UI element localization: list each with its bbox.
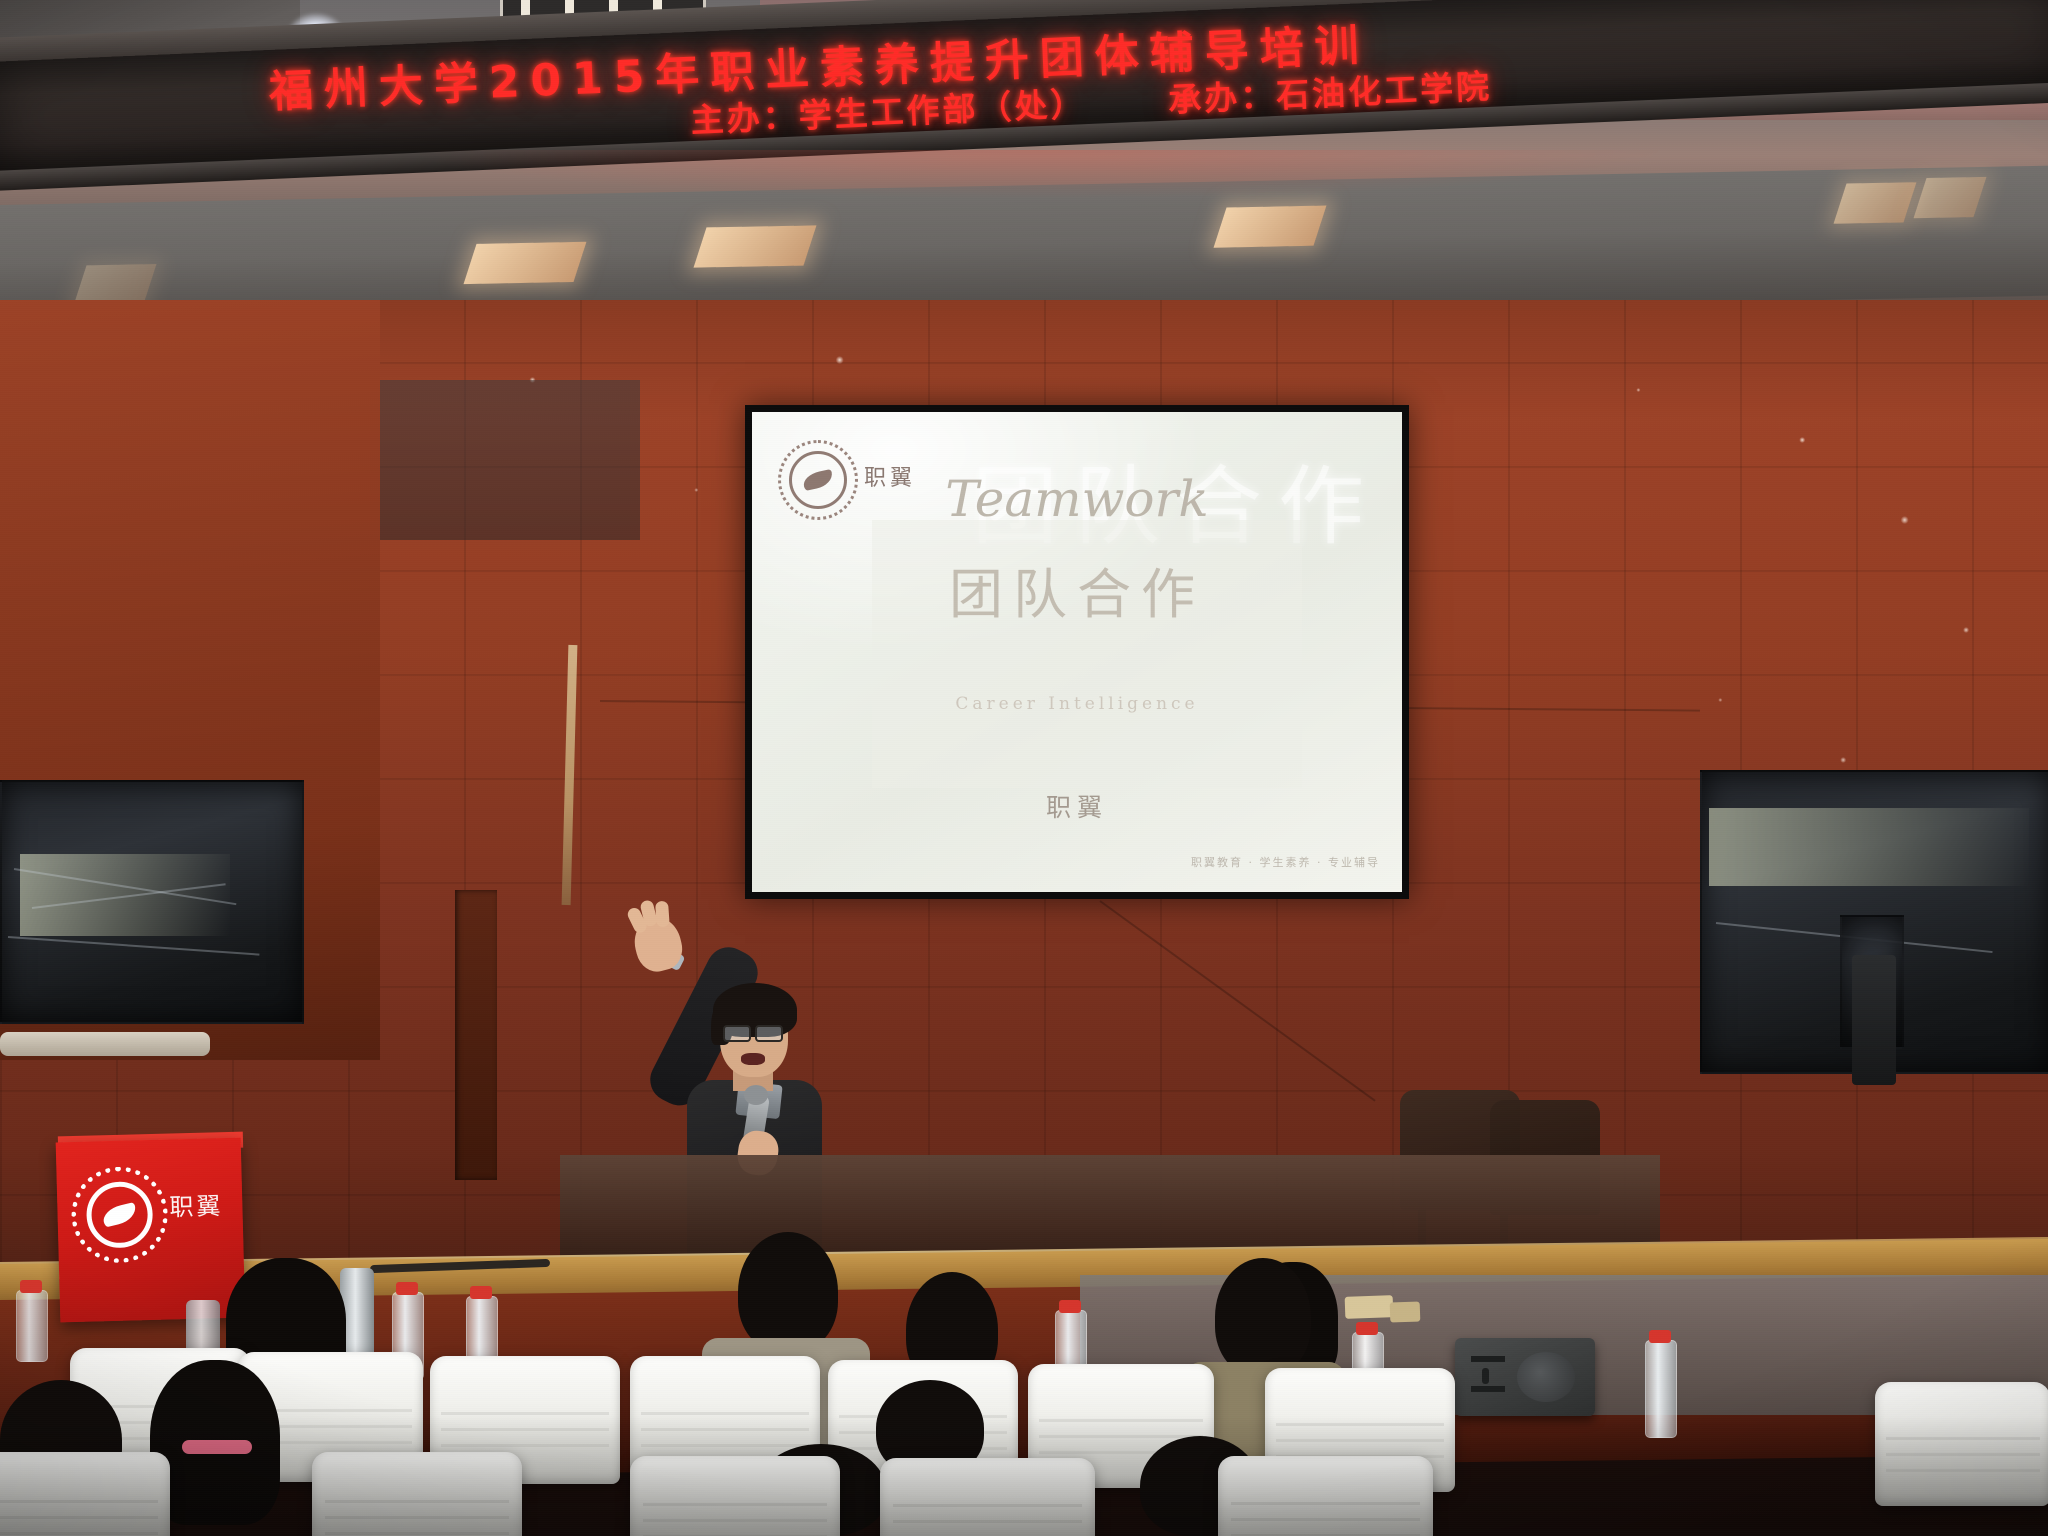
bottle-cap <box>1649 1330 1671 1343</box>
presenter-mouth <box>741 1053 765 1065</box>
glasses-icon <box>755 1025 783 1042</box>
water-bottle <box>16 1290 48 1362</box>
flag-label: 职翼 <box>169 1186 224 1222</box>
audience-person-head <box>1215 1258 1311 1376</box>
soffit-lamp-icon <box>464 242 587 284</box>
audience-chair <box>0 1452 170 1536</box>
speaker-cone-icon <box>1517 1352 1575 1402</box>
soffit-lamp-icon <box>1214 206 1327 248</box>
slide-footer-note: 职翼教育 · 学生素养 · 专业辅导 <box>1191 854 1380 870</box>
bottle-cap <box>470 1286 492 1299</box>
bottle-cap <box>396 1282 418 1295</box>
wall-speaker-column <box>1852 955 1896 1085</box>
microphone-head-icon <box>744 1085 768 1105</box>
slide-title-english: Teamwork <box>752 470 1402 528</box>
audience-chair <box>1218 1456 1433 1536</box>
wall-dark-band <box>380 380 640 540</box>
window-reflection <box>1709 808 2029 886</box>
soffit-lamp-icon <box>1834 182 1917 224</box>
audience-person-head <box>738 1232 838 1352</box>
wall-window-left <box>0 780 304 1024</box>
stage-edge-paper <box>1345 1295 1394 1319</box>
audience-chair <box>880 1458 1095 1536</box>
bottle-cap <box>20 1280 42 1293</box>
glasses-icon <box>723 1025 751 1042</box>
slide-subtitle: Career Intelligence <box>752 694 1402 714</box>
speaker-grill-icon <box>1471 1356 1505 1362</box>
audience-chair <box>630 1456 840 1536</box>
soffit-lamp-icon <box>1914 177 1987 218</box>
stage-floor-monitor-speaker <box>1455 1338 1595 1416</box>
window-sill-objects <box>0 1032 210 1056</box>
water-bottle <box>1645 1340 1677 1438</box>
projection-screen-frame: 职翼 团队合作 Teamwork 团队合作 Career Intelligenc… <box>745 405 1409 899</box>
speaker-led-icon <box>1482 1368 1489 1384</box>
flag-emblem-bird-icon <box>101 1202 138 1227</box>
auditorium-photo-scene: 福州大学2015年职业素养提升团体辅导培训 主办：学生工作部（处）承办：石油化工… <box>0 0 2048 1536</box>
projection-screen: 职翼 团队合作 Teamwork 团队合作 Career Intelligenc… <box>752 412 1402 892</box>
bottle-cap <box>1356 1322 1378 1335</box>
flag-emblem-icon <box>70 1166 168 1264</box>
soffit-lamp-icon <box>694 225 817 267</box>
speaker-grill-icon <box>1471 1386 1505 1392</box>
slide-title-chinese: 团队合作 <box>752 550 1402 629</box>
stage-side-door <box>455 890 497 1180</box>
stage-edge-paper <box>1390 1301 1421 1322</box>
audience-chair <box>312 1452 522 1536</box>
audience-chair <box>1875 1382 2048 1506</box>
banner-organizer-label: 承办： <box>1167 76 1277 120</box>
banner-host-label: 主办： <box>690 96 800 140</box>
bottle-cap <box>1059 1300 1081 1313</box>
red-banner-flag: 职翼 <box>56 1138 246 1323</box>
slide-footer-logo: 职翼 <box>752 788 1402 824</box>
audience-hair-tie <box>182 1440 252 1454</box>
